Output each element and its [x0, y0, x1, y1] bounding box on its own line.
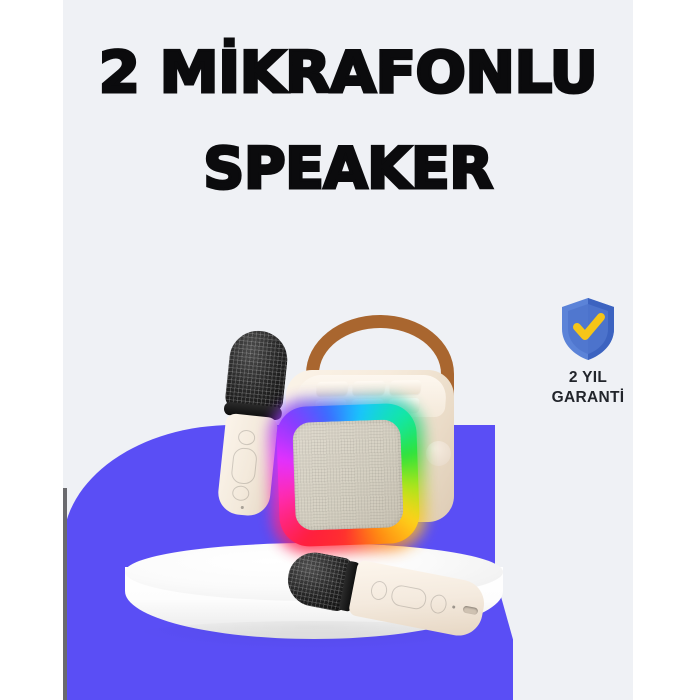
karaoke-speaker [278, 315, 468, 545]
speaker-handle-knob [426, 441, 451, 466]
headline: 2 MİKRAFONLU SPEAKER [63, 46, 633, 198]
speaker-mesh-grille [292, 419, 404, 531]
product-photo-panel: 2 MİKRAFONLU SPEAKER [63, 0, 633, 700]
badge-line-1: 2 YIL [536, 368, 633, 388]
speaker-button-3 [389, 380, 422, 395]
speaker-rgb-light-ring [276, 403, 421, 548]
headline-line-1: 2 MİKRAFONLU [63, 46, 633, 102]
shield-check-icon [559, 296, 617, 362]
panel-edge-strip [63, 488, 67, 700]
headline-line-2: SPEAKER [63, 142, 633, 198]
product-image-canvas: 2 MİKRAFONLU SPEAKER [0, 0, 700, 700]
warranty-badge: 2 YIL GARANTİ [536, 296, 633, 409]
microphone-led-dot [241, 506, 244, 509]
speaker-button-2 [352, 381, 385, 396]
speaker-button-1 [316, 381, 349, 396]
badge-line-2: GARANTİ [536, 388, 633, 408]
